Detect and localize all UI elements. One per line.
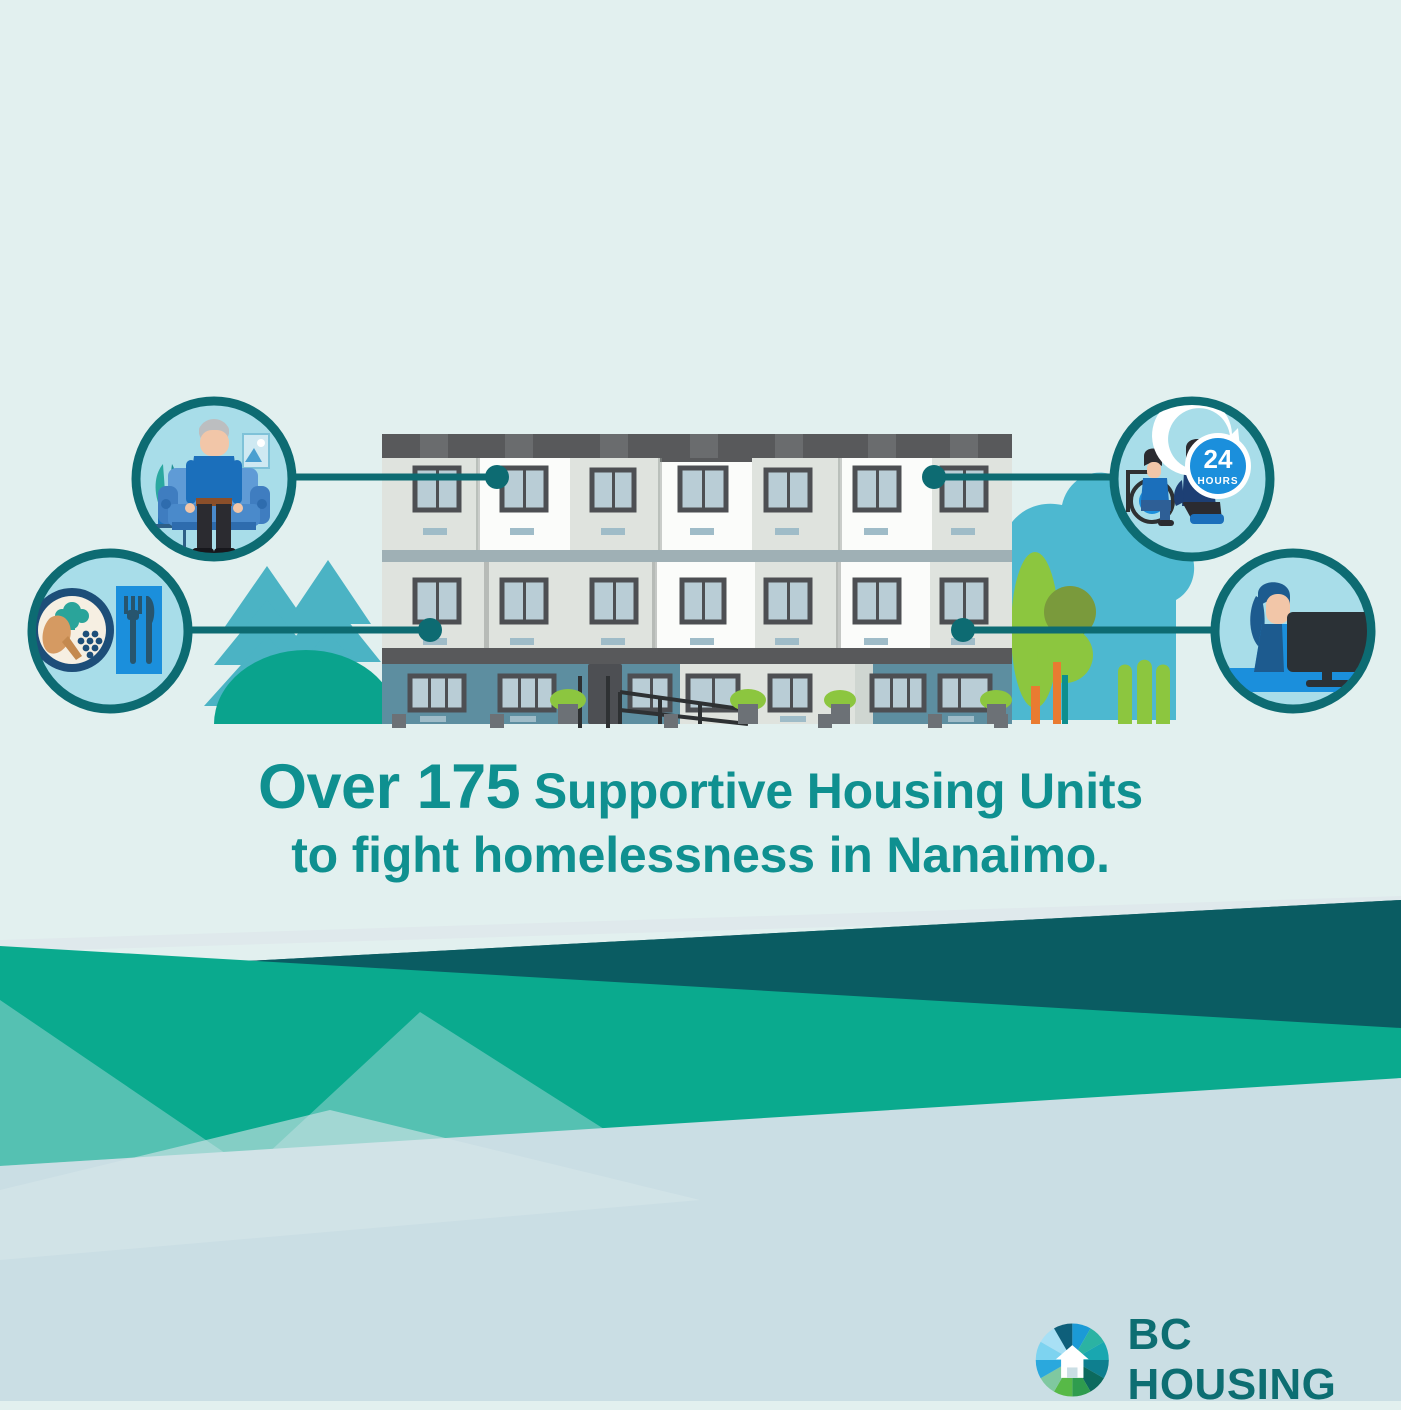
- meals-icon[interactable]: [30, 553, 188, 709]
- picture-frame: [243, 434, 269, 468]
- badge-number-text: 24: [1204, 444, 1233, 474]
- brand-name: BC HOUSING: [1128, 1310, 1401, 1410]
- logo-house-door: [1067, 1367, 1077, 1377]
- badge-label-text: HOURS: [1197, 476, 1238, 487]
- infographic-canvas: 24 HOURS: [0, 0, 1401, 1401]
- bc-housing-pinwheel-house-logo: [1035, 1321, 1110, 1399]
- staff-support-icon[interactable]: [1215, 553, 1375, 709]
- twentyfour-hour-support-icon[interactable]: 24 HOURS: [1114, 396, 1270, 557]
- feature-circles: 24 HOURS: [0, 0, 1401, 1401]
- brand-lockup[interactable]: BC HOUSING: [1035, 1310, 1401, 1410]
- independent-living-icon[interactable]: [136, 401, 292, 557]
